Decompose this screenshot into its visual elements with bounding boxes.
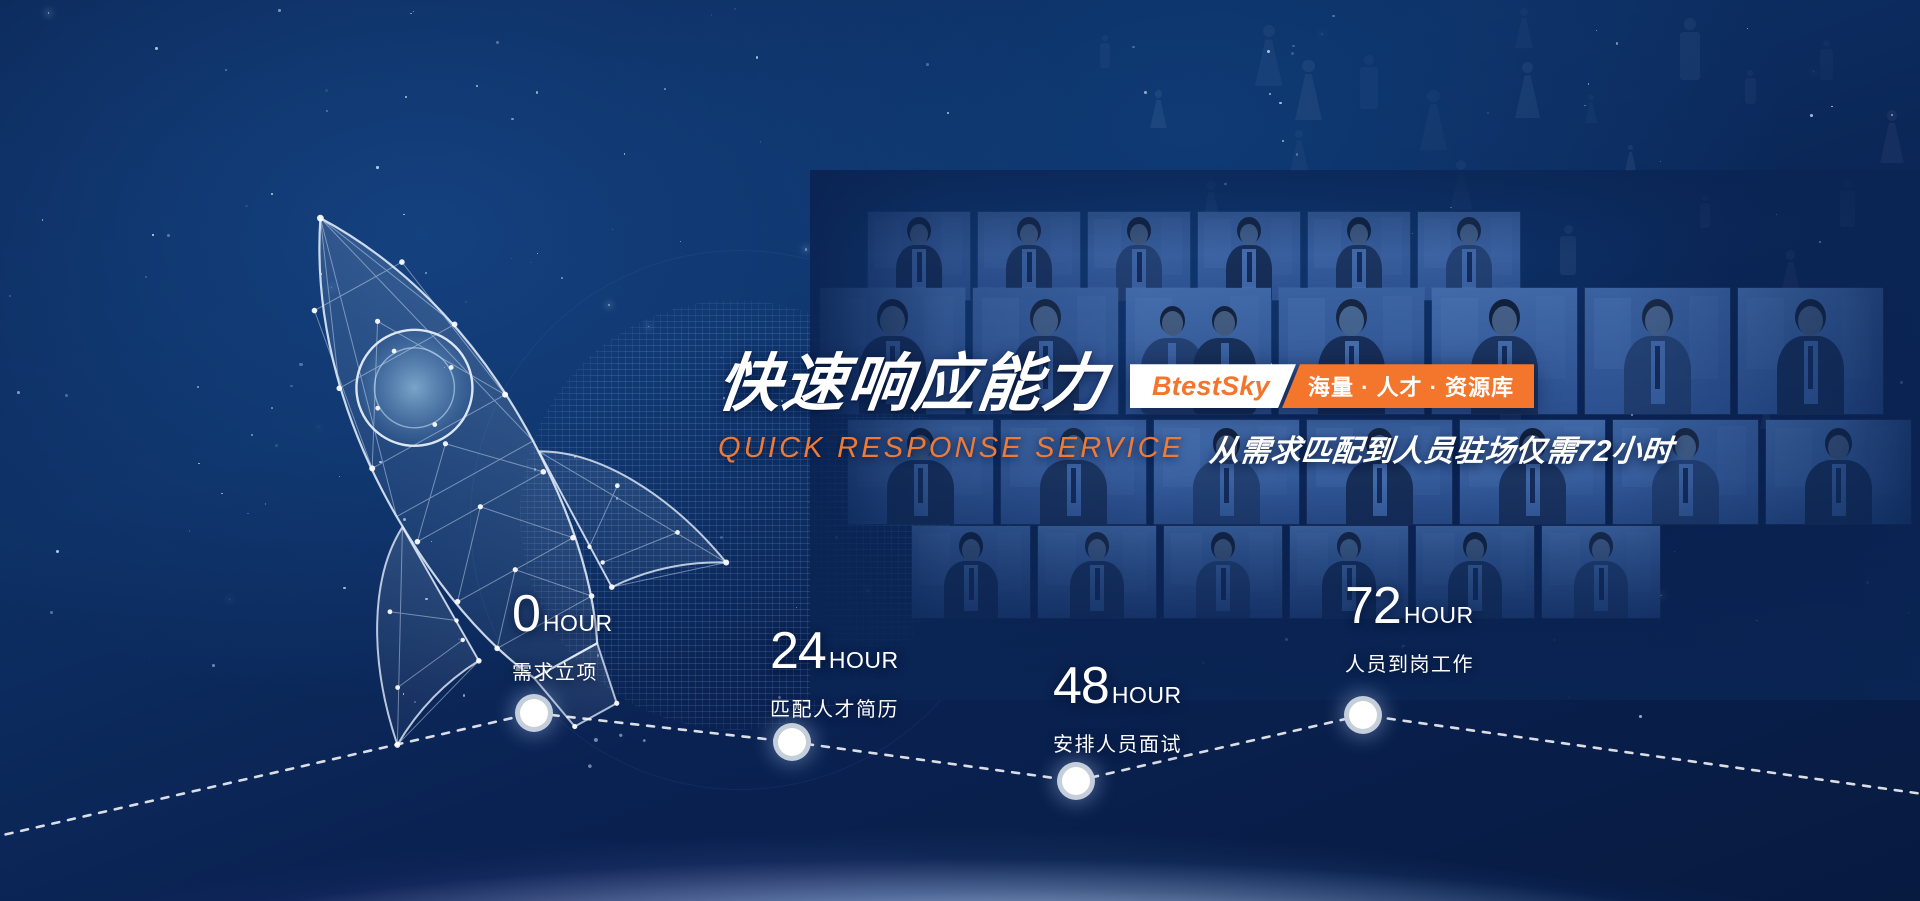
star: [947, 112, 949, 114]
talent-photo: [1738, 288, 1883, 414]
headline-row-secondary: QUICK RESPONSE SERVICE 从需求匹配到人员驻场仅需72小时: [718, 426, 1673, 470]
talent-photo: [868, 212, 970, 300]
star: [1487, 112, 1489, 114]
star: [152, 234, 153, 235]
person-pictogram-icon: [1290, 130, 1309, 172]
person-pictogram-icon: [1150, 90, 1167, 128]
star: [1282, 140, 1284, 142]
talent-photo: [1308, 212, 1410, 300]
brand-badge: BtestSky 海量 · 人才 · 资源库: [1130, 364, 1534, 408]
star: [155, 47, 157, 49]
star: [734, 8, 736, 10]
person-pictogram-icon: [1820, 40, 1833, 80]
talent-photo: [1418, 212, 1520, 300]
title-english: QUICK RESPONSE SERVICE: [718, 432, 1184, 465]
star: [1132, 46, 1134, 48]
star: [9, 295, 11, 297]
star: [711, 14, 712, 15]
star: [405, 96, 406, 97]
person-pictogram-icon: [1360, 55, 1378, 109]
star: [145, 276, 147, 278]
aurora-wave-decoration: [0, 601, 1920, 901]
person-pictogram-icon: [1255, 25, 1282, 86]
star: [1267, 50, 1270, 53]
star: [278, 9, 280, 11]
brand-name: BtestSky: [1130, 364, 1296, 408]
brand-tagline: 海量 · 人才 · 资源库: [1282, 364, 1534, 408]
star: [1332, 15, 1334, 17]
star: [1296, 153, 1298, 155]
star: [325, 89, 328, 92]
person-pictogram-icon: [1745, 70, 1756, 104]
star: [1810, 114, 1813, 117]
headline-block: 快速响应能力 BtestSky 海量 · 人才 · 资源库 QUICK RESP…: [718, 352, 1673, 470]
star: [756, 56, 758, 58]
person-pictogram-icon: [1680, 18, 1700, 80]
person-pictogram-icon: [1420, 90, 1447, 150]
talent-photo: [1766, 420, 1911, 524]
talent-photo: [1198, 212, 1300, 300]
person-pictogram-icon: [1515, 8, 1533, 48]
talent-photo: [978, 212, 1080, 300]
star: [17, 391, 20, 394]
headline-row-primary: 快速响应能力 BtestSky 海量 · 人才 · 资源库: [718, 352, 1673, 416]
star: [1891, 114, 1893, 116]
person-pictogram-icon: [1515, 62, 1540, 118]
person-pictogram-icon: [1625, 145, 1636, 171]
person-pictogram-icon: [1295, 60, 1322, 120]
person-pictogram-icon: [1100, 35, 1110, 68]
person-pictogram-icon: [1880, 110, 1904, 163]
banner-stage: 快速响应能力 BtestSky 海量 · 人才 · 资源库 QUICK RESP…: [0, 0, 1920, 901]
person-pictogram-icon: [1585, 95, 1597, 123]
star: [511, 118, 513, 120]
star: [496, 41, 498, 43]
star: [1660, 161, 1661, 162]
page-title: 快速响应能力: [714, 352, 1112, 416]
star: [1292, 45, 1294, 47]
star: [1144, 91, 1147, 94]
star: [1291, 52, 1294, 55]
star: [664, 88, 666, 90]
talent-photo: [1088, 212, 1190, 300]
page-subtitle: 从需求匹配到人员驻场仅需72小时: [1208, 426, 1676, 470]
